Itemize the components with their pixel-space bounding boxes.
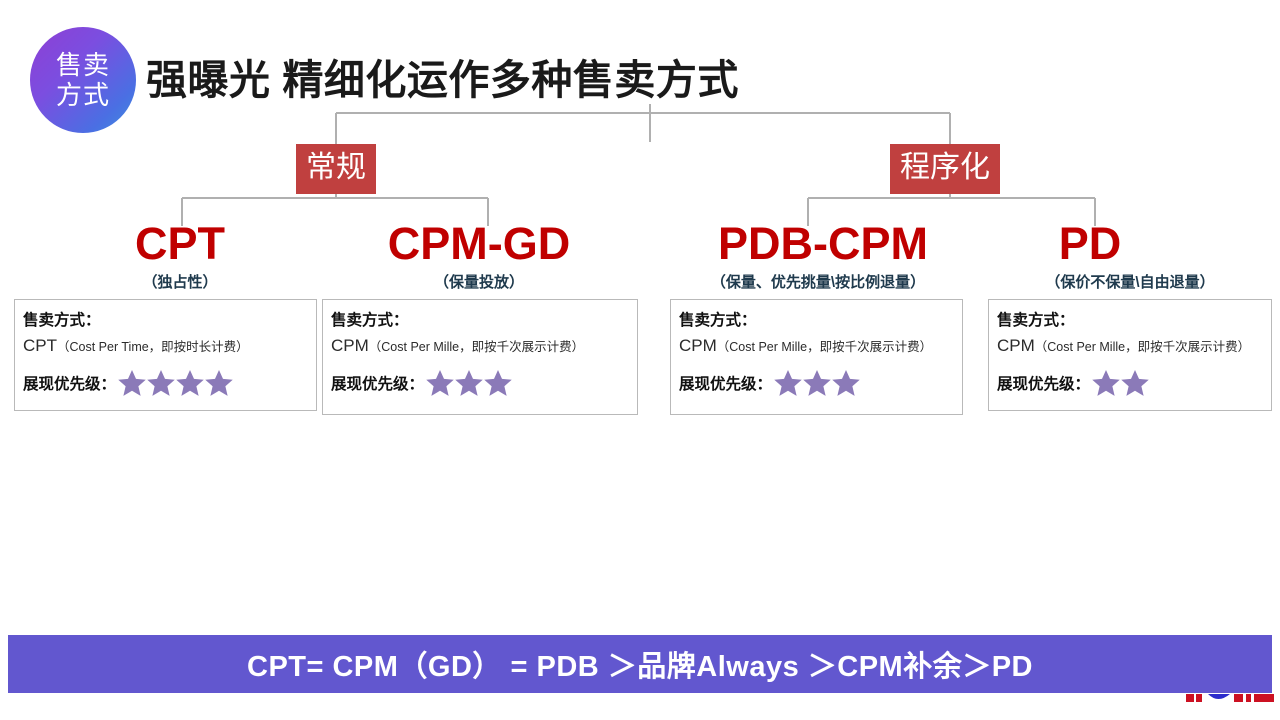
info-box-code: CPM (679, 336, 717, 355)
brand-logo (1186, 694, 1274, 710)
column-title-pd: PD (995, 219, 1185, 269)
info-box-body: CPM（Cost Per Mille，即按千次展示计费） (679, 335, 954, 358)
info-box-explanation: （Cost Per Time，即按时长计费） (57, 340, 249, 354)
footer-banner: CPT= CPM（GD） = PDB ＞品牌Always ＞CPM补余＞PD (8, 635, 1272, 693)
info-box-head: 售卖方式： (997, 310, 1263, 332)
info-box-code: CPM (997, 336, 1035, 355)
priority-row: 展现优先级： (331, 368, 629, 398)
column-subtitle-cpt: （独占性） (80, 273, 280, 293)
page-title: 强曝光 精细化运作多种售卖方式 (146, 46, 739, 106)
slide-canvas: 售卖 方式 强曝光 精细化运作多种售卖方式 常规 程序化 CPT （独占性） (0, 0, 1280, 720)
badge-line-2: 方式 (56, 80, 110, 110)
star-icon (117, 368, 147, 398)
star-icon (802, 368, 832, 398)
info-box-code: CPM (331, 336, 369, 355)
column-subtitle-pdb-cpm: （保量、优先挑量\按比例退量） (668, 273, 968, 293)
priority-stars (117, 368, 233, 398)
info-box-pd: 售卖方式： CPM（Cost Per Mille，即按千次展示计费） 展现优先级… (988, 299, 1272, 411)
footer-formula: CPT= CPM（GD） = PDB ＞品牌Always ＞CPM补余＞PD (247, 643, 1033, 685)
priority-row: 展现优先级： (23, 368, 308, 398)
star-icon (773, 368, 803, 398)
priority-label: 展现优先级： (679, 372, 772, 394)
badge-line-1: 售卖 (56, 50, 110, 80)
star-icon (175, 368, 205, 398)
column-subtitle-cpm-gd: （保量投放） (379, 273, 579, 293)
star-icon (483, 368, 513, 398)
info-box-body: CPT（Cost Per Time，即按时长计费） (23, 335, 308, 358)
info-box-body: CPM（Cost Per Mille，即按千次展示计费） (331, 335, 629, 358)
star-icon (204, 368, 234, 398)
star-icon (454, 368, 484, 398)
info-box-head: 售卖方式： (331, 310, 629, 332)
info-box-explanation: （Cost Per Mille，即按千次展示计费） (369, 340, 584, 354)
priority-row: 展现优先级： (679, 368, 954, 398)
column-title-pdb-cpm: PDB-CPM (718, 219, 918, 269)
info-box-explanation: （Cost Per Mille，即按千次展示计费） (717, 340, 932, 354)
star-icon (831, 368, 861, 398)
priority-label: 展现优先级： (997, 372, 1090, 394)
info-box-pdb-cpm: 售卖方式： CPM（Cost Per Mille，即按千次展示计费） 展现优先级… (670, 299, 963, 415)
info-box-explanation: （Cost Per Mille，即按千次展示计费） (1035, 340, 1250, 354)
info-box-cpm-gd: 售卖方式： CPM（Cost Per Mille，即按千次展示计费） 展现优先级… (322, 299, 638, 415)
column-title-cpm-gd: CPM-GD (379, 219, 579, 269)
column-subtitle-pd: （保价不保量\自由退量） (990, 273, 1270, 293)
column-title-cpt: CPT (80, 219, 280, 269)
category-label-programmatic: 程序化 (890, 144, 1000, 194)
priority-stars (1091, 368, 1149, 398)
priority-stars (773, 368, 860, 398)
sales-method-badge: 售卖 方式 (30, 27, 136, 133)
category-label-normal: 常规 (296, 144, 376, 194)
star-icon (146, 368, 176, 398)
priority-label: 展现优先级： (331, 372, 424, 394)
info-box-head: 售卖方式： (23, 310, 308, 332)
priority-stars (425, 368, 512, 398)
info-box-code: CPT (23, 336, 57, 355)
info-box-head: 售卖方式： (679, 310, 954, 332)
info-box-cpt: 售卖方式： CPT（Cost Per Time，即按时长计费） 展现优先级： (14, 299, 317, 411)
star-icon (425, 368, 455, 398)
priority-row: 展现优先级： (997, 368, 1263, 398)
star-icon (1120, 368, 1150, 398)
priority-label: 展现优先级： (23, 372, 116, 394)
star-icon (1091, 368, 1121, 398)
info-box-body: CPM（Cost Per Mille，即按千次展示计费） (997, 335, 1263, 358)
